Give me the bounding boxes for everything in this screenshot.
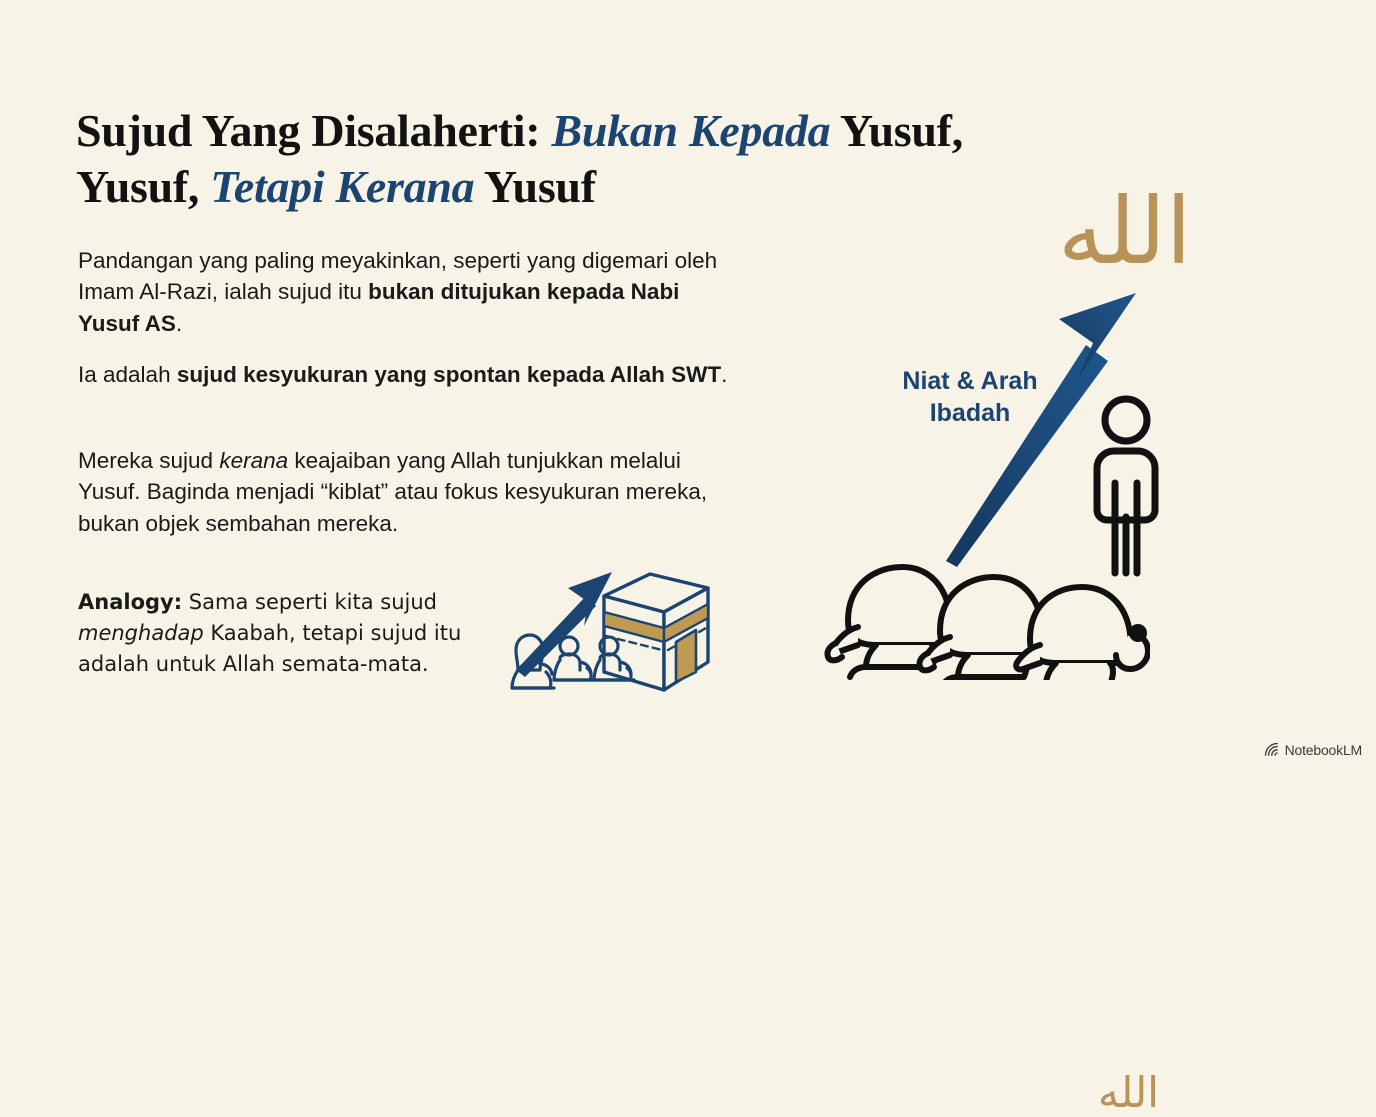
analogy-label: Analogy: [78,590,182,614]
kaaba-cube-icon [604,574,708,690]
prostrating-people-icon [820,545,1150,680]
body-paragraph-analogy: Analogy: Sama seperti kita sujud menghad… [78,587,508,680]
kaaba-scene-icon [500,530,720,700]
title-segment-plain: Sujud Yang Disalaherti: [76,105,551,156]
allah-calligraphy-main: الله [1058,186,1191,278]
body-paragraph-1: Pandangan yang paling meyakinkan, sepert… [78,245,738,341]
title-segment-accent: Tetapi Kerana [210,161,474,212]
title-segment-plain: Yusuf, [830,105,963,156]
page-title: Sujud Yang Disalaherti: Bukan Kepada Yus… [76,103,1206,215]
body-paragraph-2: Ia adalah sujud kesyukuran yang spontan … [78,359,738,391]
paragraph-text: Ia adalah [78,362,177,387]
notebooklm-label: NotebookLM [1285,742,1362,758]
kaaba-analogy-illustration: الله [500,530,720,705]
body-paragraph-3: Mereka sujud kerana keajaiban yang Allah… [78,445,738,541]
paragraph-text: Sama seperti kita sujud [182,590,437,614]
notebooklm-watermark: NotebookLM [1264,742,1362,758]
paragraph-text: Mereka sujud [78,448,219,473]
title-segment-accent: Bukan Kepada [551,105,830,156]
paragraph-emphasis: sujud kesyukuran yang spontan kepada All… [177,362,721,387]
slide-canvas: Sujud Yang Disalaherti: Bukan Kepada Yus… [0,0,1376,768]
paragraph-italic: kerana [219,448,288,473]
title-segment-plain: Yusuf, [76,161,210,212]
paragraph-italic: menghadap [78,621,204,645]
title-segment-plain: Yusuf [474,161,595,212]
paragraph-text: . [176,311,182,336]
allah-calligraphy-inset: الله [1098,1072,1159,1114]
paragraph-text: . [721,362,727,387]
notebooklm-spiral-icon [1264,742,1280,758]
